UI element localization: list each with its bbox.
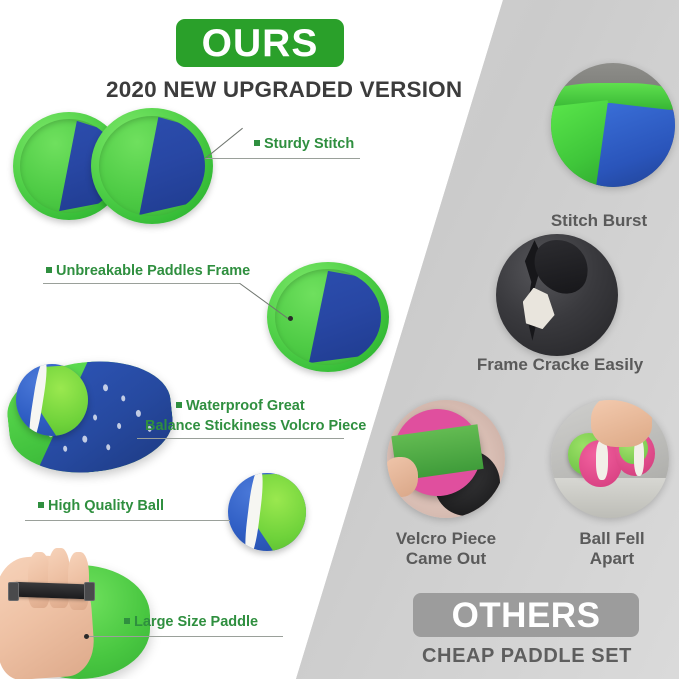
ours-subtitle: 2020 NEW UPGRADED VERSION [106, 77, 466, 103]
paddle-right [91, 108, 213, 224]
annotation-waterproof-line2: Balance Stickiness Volcro Piece [145, 418, 366, 434]
annotation-ball-fell-apart: Ball Fell Apart [552, 529, 672, 569]
bullet-square-icon [46, 267, 52, 273]
ours-badge: OURS [176, 19, 344, 67]
annotation-stitch-burst: Stitch Burst [524, 211, 674, 231]
finger [68, 552, 89, 610]
paddle-velcro-patch [99, 116, 205, 216]
photo-frame-crack [496, 234, 618, 356]
annotation-high-quality-ball: High Quality Ball [38, 498, 164, 514]
thumb [387, 457, 418, 497]
ball-high-quality [228, 473, 306, 551]
photo-stitch-burst [551, 63, 675, 187]
annotation-sturdy-stitch: Sturdy Stitch [254, 136, 354, 152]
annotation-label: Sturdy Stitch [264, 136, 354, 152]
photo-ball-fell-apart [551, 400, 669, 518]
comparison-infographic: OURS 2020 NEW UPGRADED VERSION Sturdy St… [0, 0, 679, 679]
annotation-label-line2: Apart [552, 549, 672, 569]
bullet-square-icon [124, 618, 130, 624]
paddle-hand-strap [12, 582, 88, 600]
finger [28, 552, 50, 608]
annotation-large-size-paddle: Large Size Paddle [124, 614, 258, 630]
water-drop-icon [135, 409, 141, 416]
annotation-rule [137, 438, 344, 439]
finger [48, 548, 70, 608]
paddle-velcro-patch [596, 103, 675, 187]
photo-velcro-came-out [387, 400, 505, 518]
annotation-rule [205, 158, 360, 159]
annotation-leader-line [205, 128, 243, 159]
annotation-label-line1: Waterproof Great [186, 398, 305, 414]
annotation-velcro-came-out: Velcro Piece Came Out [380, 529, 512, 569]
annotation-label-line1: Ball Fell [552, 529, 672, 549]
annotation-rule [86, 636, 283, 637]
strap-buckle [84, 582, 95, 601]
ball-on-paddle [16, 364, 88, 436]
bullet-square-icon [38, 502, 44, 508]
paddle-face [99, 116, 205, 216]
ball-seam [596, 440, 608, 480]
annotation-rule [25, 520, 230, 521]
annotation-label-line2: Came Out [380, 549, 512, 569]
annotation-label-line1: Velcro Piece [380, 529, 512, 549]
hand [591, 400, 652, 447]
ours-badge-label: OURS [202, 24, 319, 63]
annotation-anchor-dot [84, 634, 89, 639]
others-badge: OTHERS [413, 593, 639, 637]
bullet-square-icon [176, 402, 182, 408]
annotation-anchor-dot [288, 316, 293, 321]
bullet-square-icon [254, 140, 260, 146]
annotation-label: High Quality Ball [48, 498, 164, 514]
annotation-rule [43, 283, 240, 284]
annotation-label: Unbreakable Paddles Frame [56, 263, 250, 279]
others-badge-label: OTHERS [452, 598, 601, 633]
annotation-waterproof: Waterproof Great [176, 398, 305, 414]
annotation-label-line2: Balance Stickiness Volcro Piece [145, 418, 366, 434]
annotation-frame-cracke-easily: Frame Cracke Easily [440, 355, 679, 375]
strap-buckle [8, 582, 19, 601]
annotation-unbreakable-frame: Unbreakable Paddles Frame [46, 263, 250, 279]
others-subtitle: CHEAP PADDLE SET [399, 645, 655, 668]
annotation-label: Large Size Paddle [134, 614, 258, 630]
